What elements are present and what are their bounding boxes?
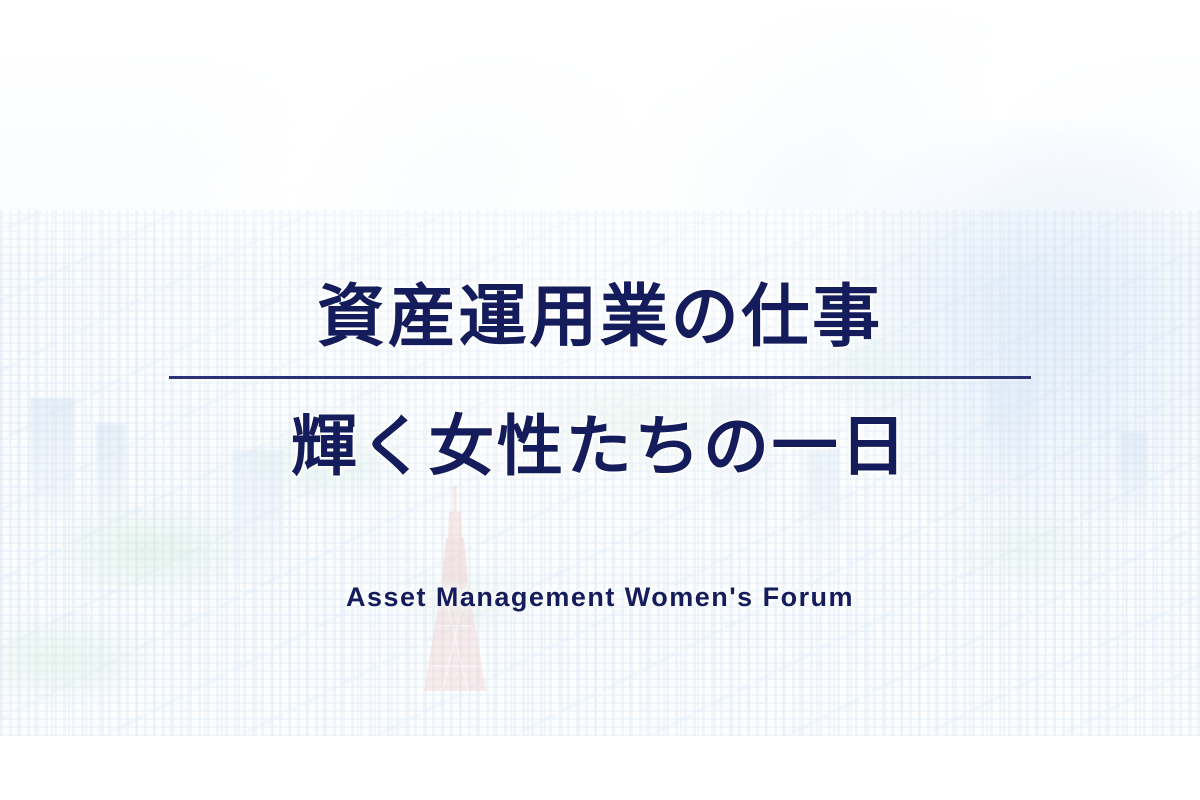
subtitle-english: Asset Management Women's Forum bbox=[0, 582, 1200, 613]
headline-secondary: 輝く女性たちの一日 bbox=[0, 408, 1200, 484]
headline-primary: 資産運用業の仕事 bbox=[0, 278, 1200, 356]
text-overlay: 資産運用業の仕事 輝く女性たちの一日 Asset Management Wome… bbox=[0, 0, 1200, 800]
banner-image: 資産運用業の仕事 輝く女性たちの一日 Asset Management Wome… bbox=[0, 0, 1200, 800]
title-divider bbox=[169, 376, 1031, 379]
